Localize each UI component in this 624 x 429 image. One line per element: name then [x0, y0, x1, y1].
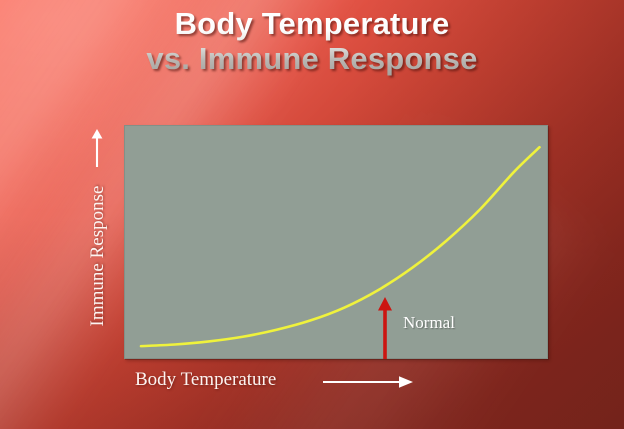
chart-plot-area: [124, 125, 548, 359]
y-axis-label: Immune Response: [87, 141, 109, 371]
slide-title: Body Temperature vs. Immune Response: [0, 6, 624, 76]
immune-response-curve: [141, 147, 540, 346]
normal-annotation-label: Normal: [403, 313, 455, 333]
arrow-right-icon: [322, 372, 414, 392]
immune-response-curve-svg: [124, 125, 548, 359]
x-axis-label: Body Temperature: [135, 369, 276, 391]
title-line-2: vs. Immune Response: [0, 41, 624, 76]
slide-canvas: Body Temperature vs. Immune Response Nor…: [0, 0, 624, 429]
title-line-1: Body Temperature: [0, 6, 624, 41]
red-arrow-up-icon: [376, 296, 394, 360]
arrow-up-icon: [89, 128, 105, 168]
